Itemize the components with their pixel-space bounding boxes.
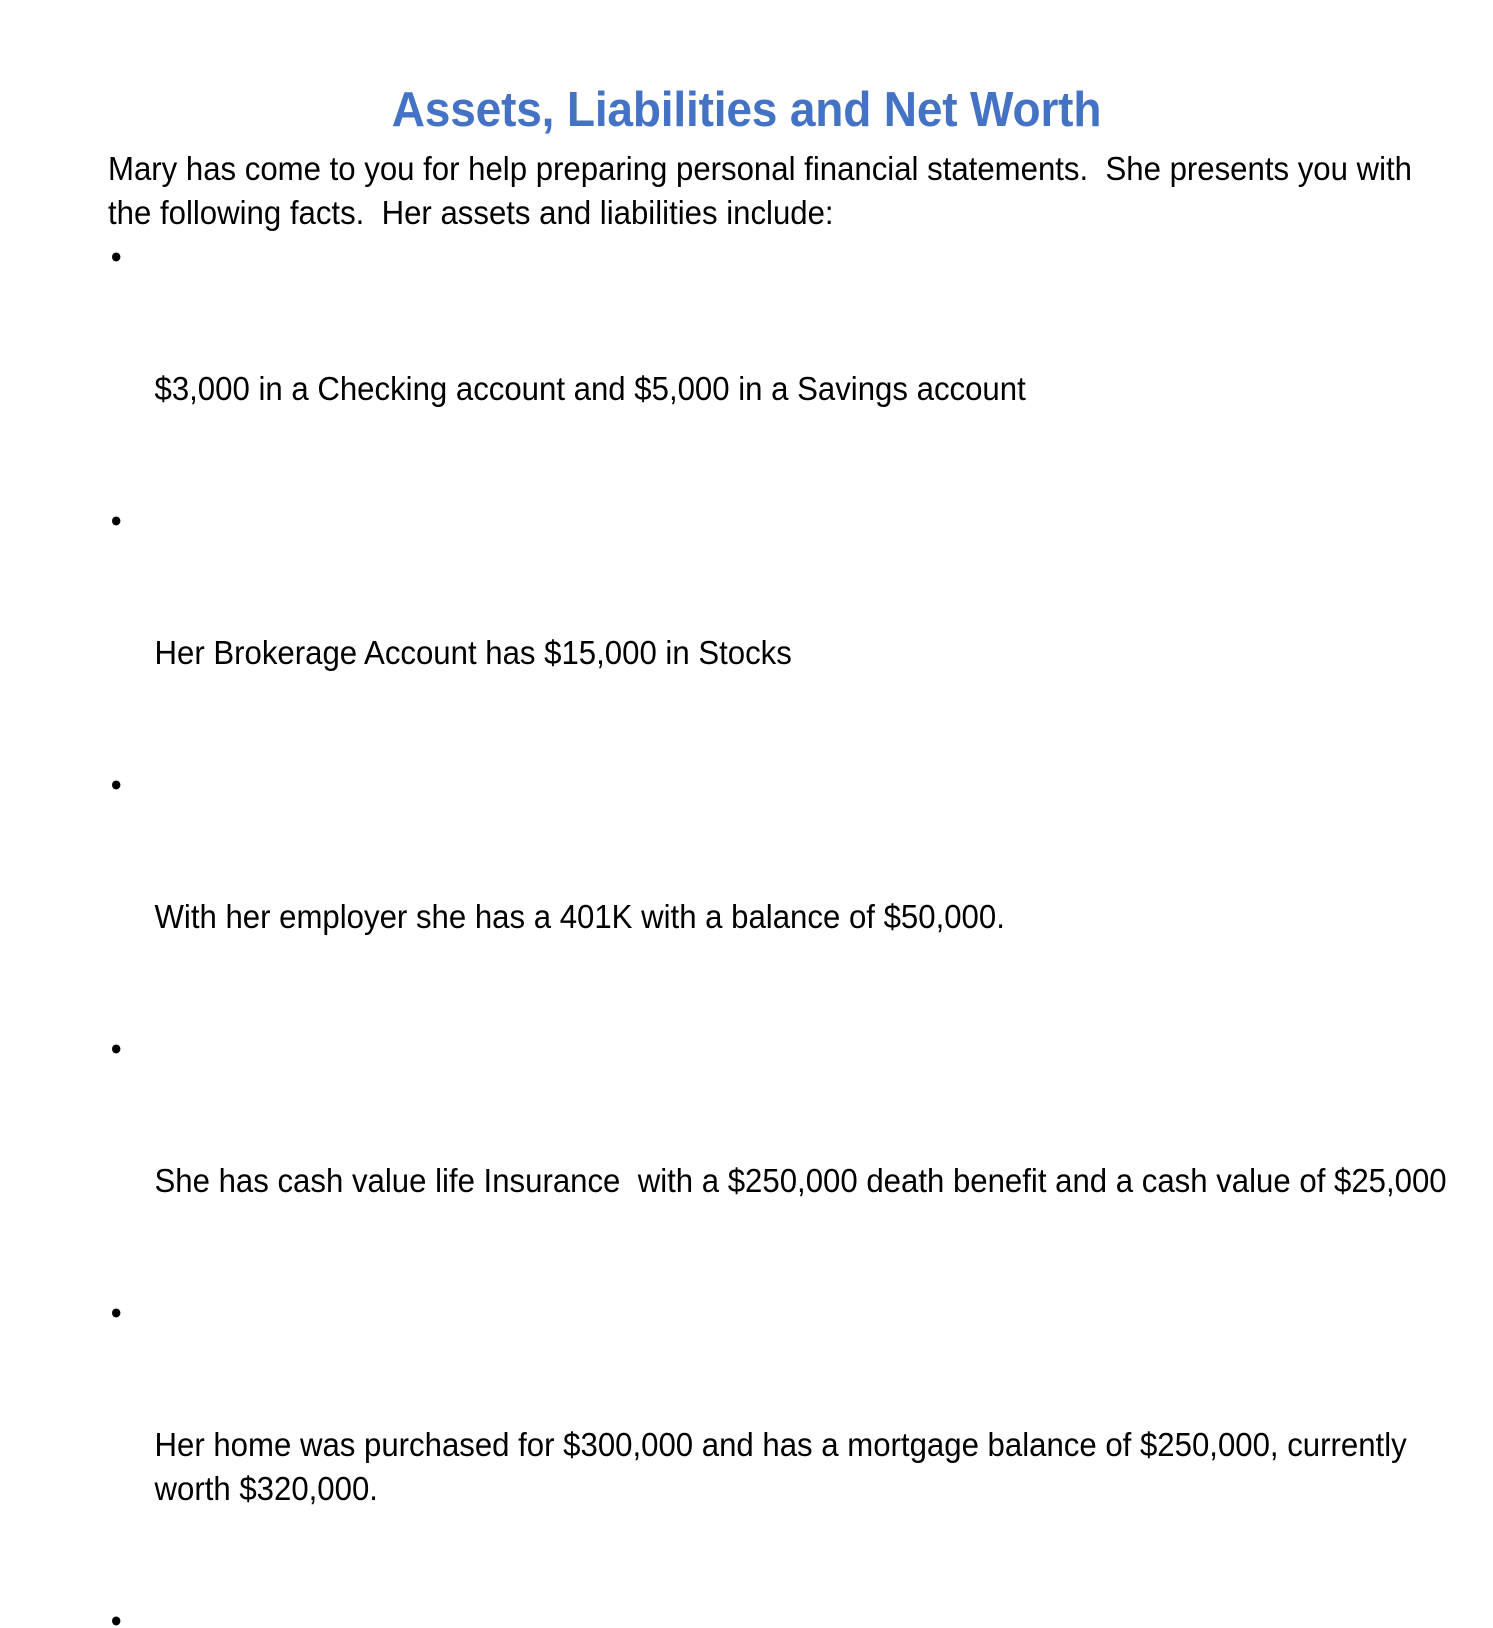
list-item: • Her home was purchased for $300,000 an… xyxy=(108,1292,1484,1600)
list-item: • Her Brokerage Account has $15,000 in S… xyxy=(108,500,1484,764)
facts-bullet-list: • $3,000 in a Checking account and $5,00… xyxy=(108,236,1438,1628)
list-item: • $3,000 in a Checking account and $5,00… xyxy=(108,236,1484,500)
list-item: • With her employer she has a 401K with … xyxy=(108,764,1484,1028)
bullet-dot-icon: • xyxy=(111,500,131,544)
list-item: • A car purchased for $35,500 where the … xyxy=(108,1600,1484,1628)
list-item-text: Her home was purchased for $300,000 and … xyxy=(155,1424,1485,1512)
slide-body: Mary has come to you for help preparing … xyxy=(108,148,1438,1628)
list-item-text: With her employer she has a 401K with a … xyxy=(155,896,1485,940)
page-title: Assets, Liabilities and Net Worth xyxy=(45,85,1448,136)
bullet-dot-icon: • xyxy=(111,236,131,280)
list-item-text: Her Brokerage Account has $15,000 in Sto… xyxy=(155,632,1485,676)
bullet-dot-icon: • xyxy=(111,764,131,808)
intro-paragraph: Mary has come to you for help preparing … xyxy=(108,148,1438,236)
slide: Assets, Liabilities and Net Worth Mary h… xyxy=(0,0,1493,814)
list-item-text: $3,000 in a Checking account and $5,000 … xyxy=(155,368,1485,412)
bullet-dot-icon: • xyxy=(111,1600,131,1628)
list-item-text: She has cash value life Insurance with a… xyxy=(155,1160,1485,1204)
bullet-dot-icon: • xyxy=(111,1028,131,1072)
bullet-dot-icon: • xyxy=(111,1292,131,1336)
list-item: • She has cash value life Insurance with… xyxy=(108,1028,1484,1292)
